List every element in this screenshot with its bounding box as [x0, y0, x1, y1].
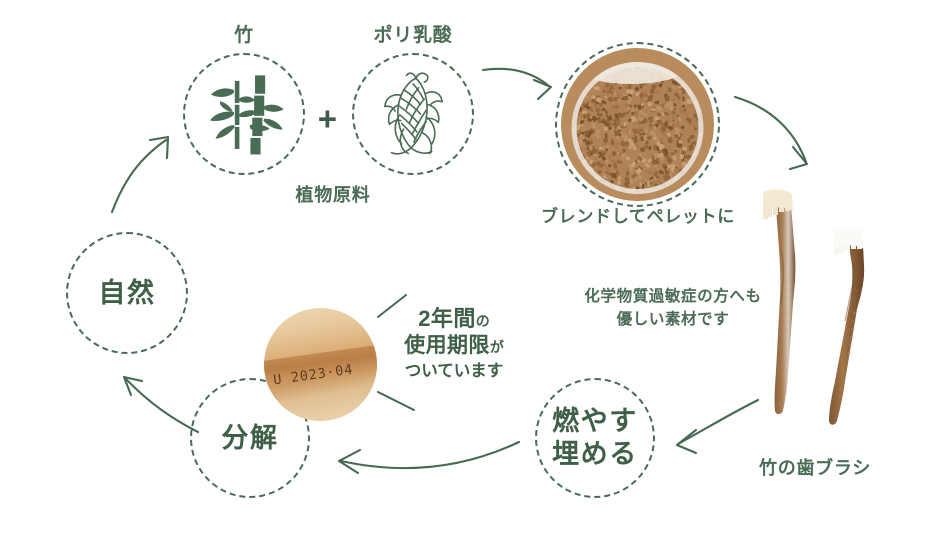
node-decompose-text: 分解	[221, 422, 278, 455]
caption-pellet: ブレンドしてペレットに	[523, 205, 753, 230]
corn-icon	[366, 67, 460, 161]
note-sensitivity-line2: 優しい素材です	[573, 309, 773, 331]
expiry-years: 2年間	[418, 306, 476, 331]
toothbrush-right	[829, 228, 864, 425]
expiry-particle-no: の	[476, 313, 490, 329]
arrow-materials-to-pellet	[483, 69, 551, 99]
expiry-term: 使用期限	[404, 334, 490, 357]
expiry-line-2: 使用期限が	[394, 333, 514, 360]
node-pla-circle	[352, 53, 474, 175]
node-burn-bury-text: 燃やす 埋める	[552, 405, 638, 471]
pellet-grain-texture	[561, 48, 714, 201]
plus-symbol: +	[311, 95, 345, 143]
node-bamboo-circle	[183, 53, 305, 175]
lifecycle-diagram: 竹 +	[0, 0, 940, 546]
arrow-burn-to-decompose	[339, 442, 519, 473]
expiry-text-block: 2年間の 使用期限が ついています	[394, 305, 514, 382]
node-nature-text: 自然	[98, 277, 155, 310]
label-bamboo: 竹	[183, 22, 305, 50]
expiry-line-3: ついています	[394, 360, 514, 382]
expiry-stamp-photo: U 2023·04	[264, 308, 377, 421]
note-sensitivity-line1: 化学物質過敏症の方へも	[573, 286, 773, 308]
pellet-photo	[561, 48, 714, 201]
bury-line: 埋める	[552, 438, 638, 471]
node-nature-circle: 自然	[66, 232, 188, 354]
arrow-pellet-to-toothbrush	[735, 97, 807, 169]
node-burn-bury-circle: 燃やす 埋める	[535, 378, 655, 498]
arrow-nature-to-materials	[112, 137, 168, 212]
burn-line: 燃やす	[552, 405, 638, 438]
expiry-line-1: 2年間の	[394, 305, 514, 333]
caption-toothbrush: 竹の歯ブラシ	[715, 455, 915, 481]
bamboo-icon	[198, 68, 290, 160]
expiry-particle-ga: が	[490, 339, 504, 355]
label-pla: ポリ乳酸	[352, 22, 474, 50]
arrow-decompose-to-nature	[124, 377, 198, 432]
label-plant-material: 植物原料	[258, 182, 408, 208]
